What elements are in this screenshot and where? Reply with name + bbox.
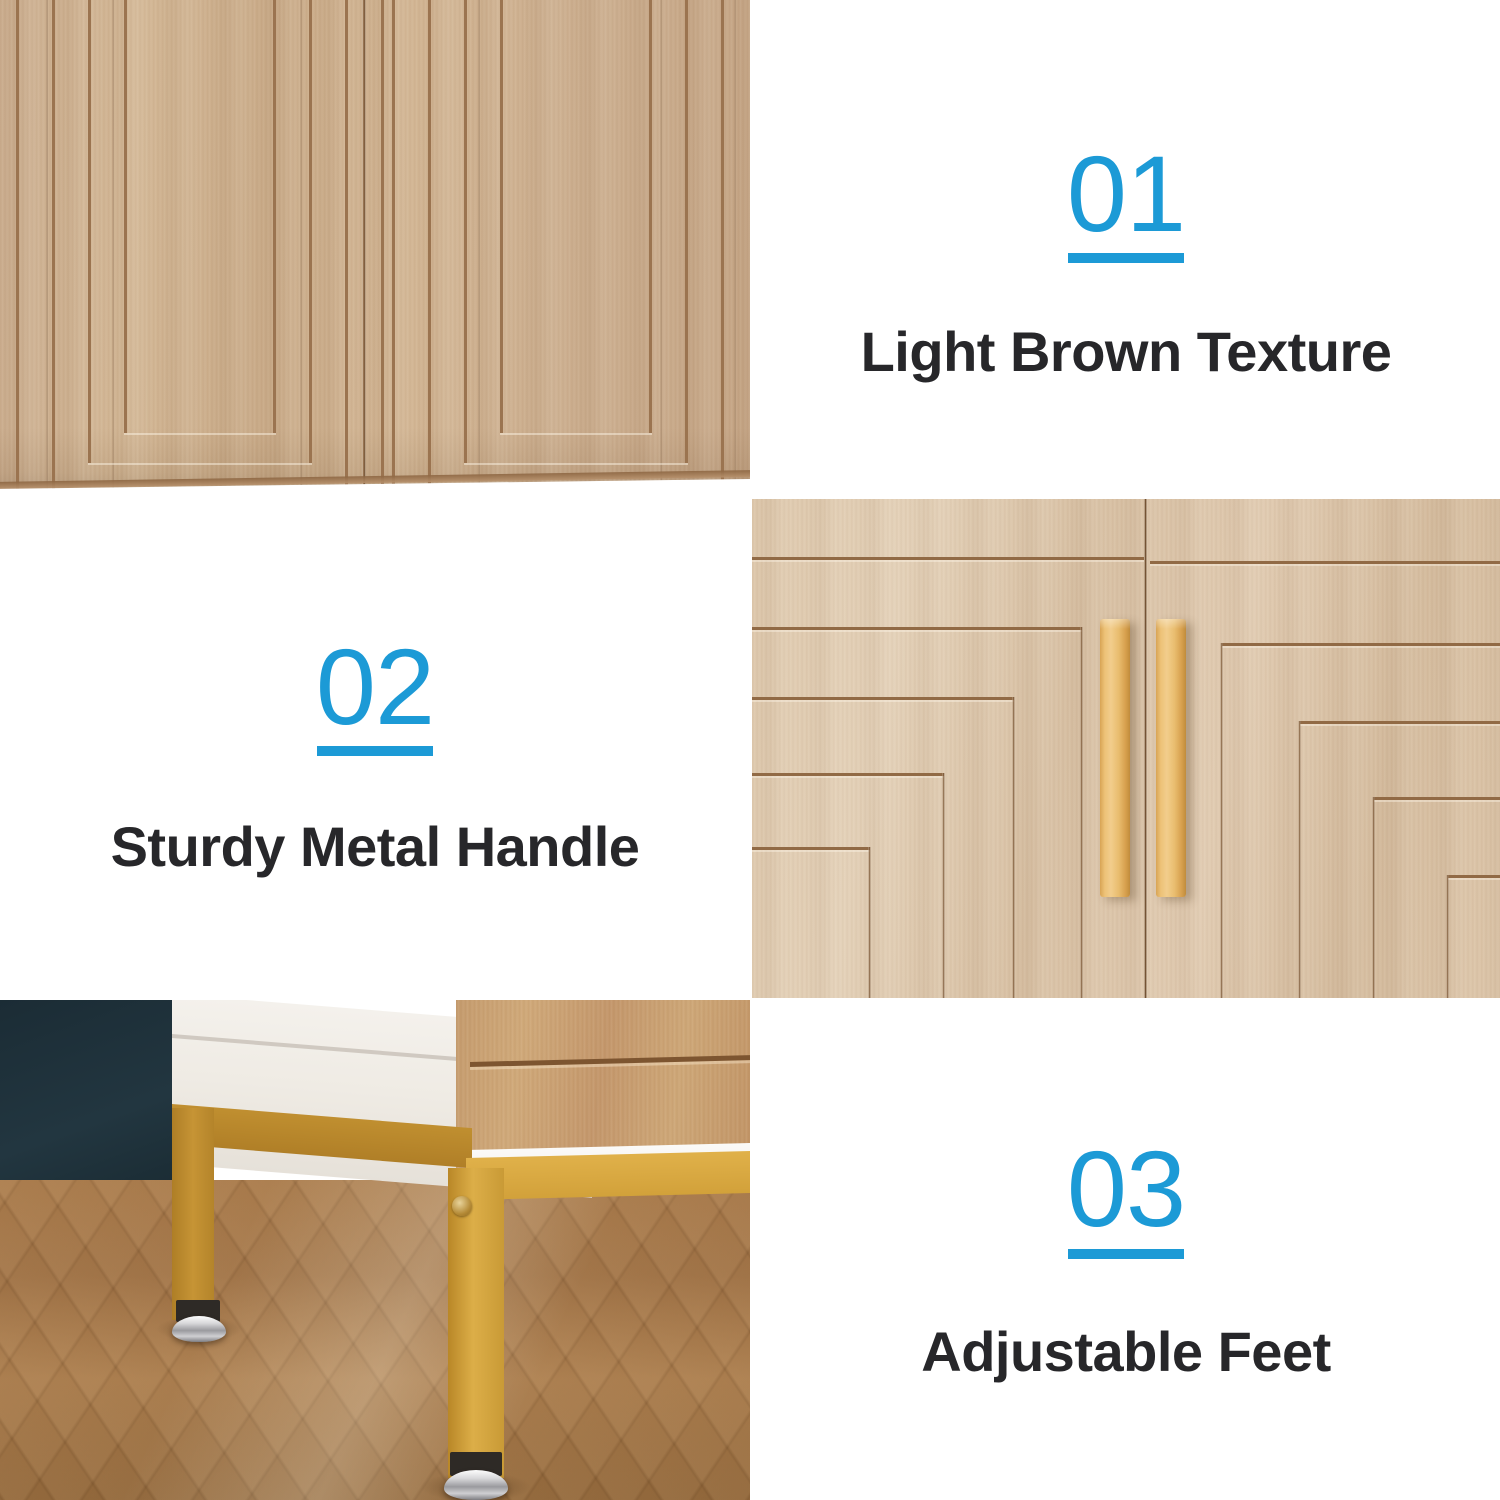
feature-title-03: Adjustable Feet [921,1319,1330,1384]
carved-riser-left-2 [1080,627,1083,998]
feature-number-02: 02 [316,636,434,739]
plank-line-3 [300,0,302,497]
carved-line-right-1 [1150,561,1500,564]
carved-riser-left-4 [942,773,945,998]
carved-riser-left-5 [868,847,871,998]
door-seam-center [362,0,366,497]
feature-number-block-03: 03 [1067,1138,1185,1259]
carved-line-right-5 [1448,875,1500,878]
carved-riser-right-2 [1220,643,1223,998]
feature-number-block-01: 01 [1067,143,1185,264]
feature-title-01: Light Brown Texture [861,319,1392,384]
carved-riser-right-4 [1372,797,1375,998]
carved-line-left-3 [752,697,1014,700]
plank-line-2 [112,0,114,497]
carved-riser-right-5 [1446,875,1449,998]
gold-rail-front [466,1151,750,1200]
handle-bar-right[interactable] [1156,619,1186,897]
floor-sheen [0,1180,750,1500]
carved-line-left-5 [752,847,870,850]
feature-number-underline-03 [1068,1249,1184,1259]
handle-bar-left[interactable] [1100,619,1130,897]
feature-number-03: 03 [1067,1138,1185,1241]
adjustable-foot-front[interactable] [444,1470,508,1500]
leg-screw-icon [452,1196,472,1216]
photo-light-brown-texture [0,0,750,497]
feature-number-underline-02 [317,746,433,756]
plank-line-5 [660,0,662,497]
carved-line-left-2 [752,627,1082,630]
carved-riser-left-3 [1012,697,1015,998]
caption-panel-02: 02 Sturdy Metal Handle [0,499,750,998]
caption-panel-01: 01 Light Brown Texture [752,0,1500,497]
feature-number-01: 01 [1067,143,1185,246]
product-feature-infographic: 01 Light Brown Texture 02 Sturdy Metal H… [0,0,1500,1500]
carved-line-right-4 [1374,797,1500,800]
plank-line-6 [734,0,736,497]
door-seam-center [1144,499,1147,998]
feature-title-02: Sturdy Metal Handle [111,814,640,879]
plank-line-4 [478,0,480,497]
carved-riser-right-3 [1298,721,1301,998]
feature-number-block-02: 02 [316,636,434,757]
gold-leg-back [172,1108,214,1320]
adjustable-foot-back[interactable] [172,1316,226,1342]
feature-number-underline-01 [1068,253,1184,263]
carved-line-right-2 [1222,643,1500,646]
plank-line-1 [46,0,48,497]
photo-adjustable-feet [0,1000,750,1500]
herringbone-floor [0,1180,750,1500]
caption-panel-03: 03 Adjustable Feet [752,1000,1500,1500]
wall-dark-teal [0,1000,172,1196]
carved-line-left-4 [752,773,944,776]
carved-line-left-1 [752,557,1144,560]
photo-sturdy-metal-handle [752,499,1500,998]
carved-line-right-3 [1300,721,1500,724]
